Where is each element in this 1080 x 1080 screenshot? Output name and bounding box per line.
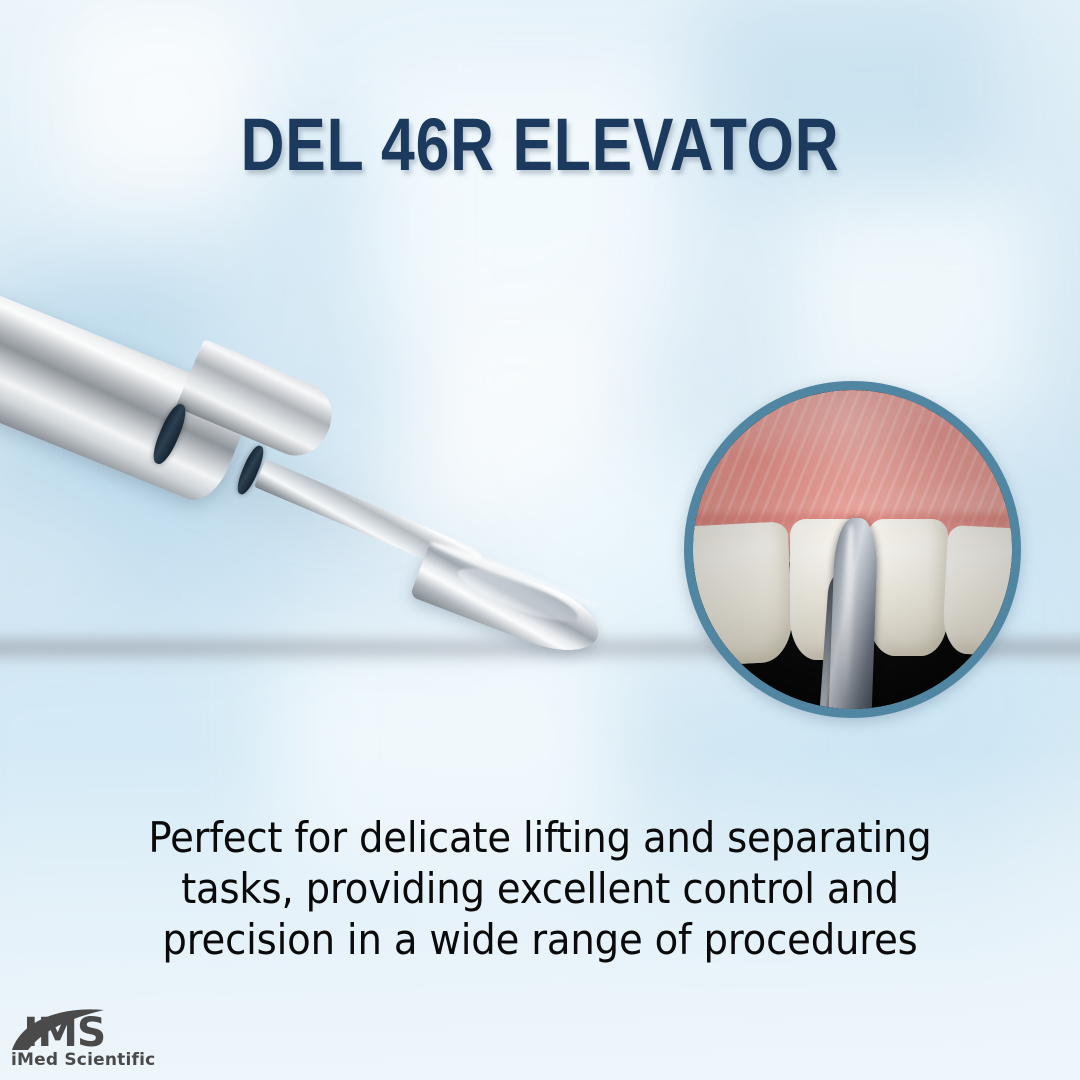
description-line-1: Perfect for delicate lifting and separat…: [122, 812, 959, 863]
dental-elevator-instrument: [0, 240, 720, 680]
page-title: DEL 46R ELEVATOR: [97, 108, 983, 182]
brand-logo: IMS iMed Scientific: [8, 1008, 188, 1074]
clinical-photo-circle: [684, 381, 1021, 718]
logo-tagline: iMed Scientific: [11, 1050, 155, 1070]
clinical-photo: [693, 390, 1012, 709]
description-line-2: tasks, providing excellent control and: [122, 863, 959, 914]
product-description: Perfect for delicate lifting and separat…: [122, 812, 959, 965]
product-poster: DEL 46R ELEVATOR: [0, 0, 1080, 1080]
inset-vignette: [693, 390, 1012, 709]
description-line-3: precision in a wide range of procedures: [122, 914, 959, 965]
